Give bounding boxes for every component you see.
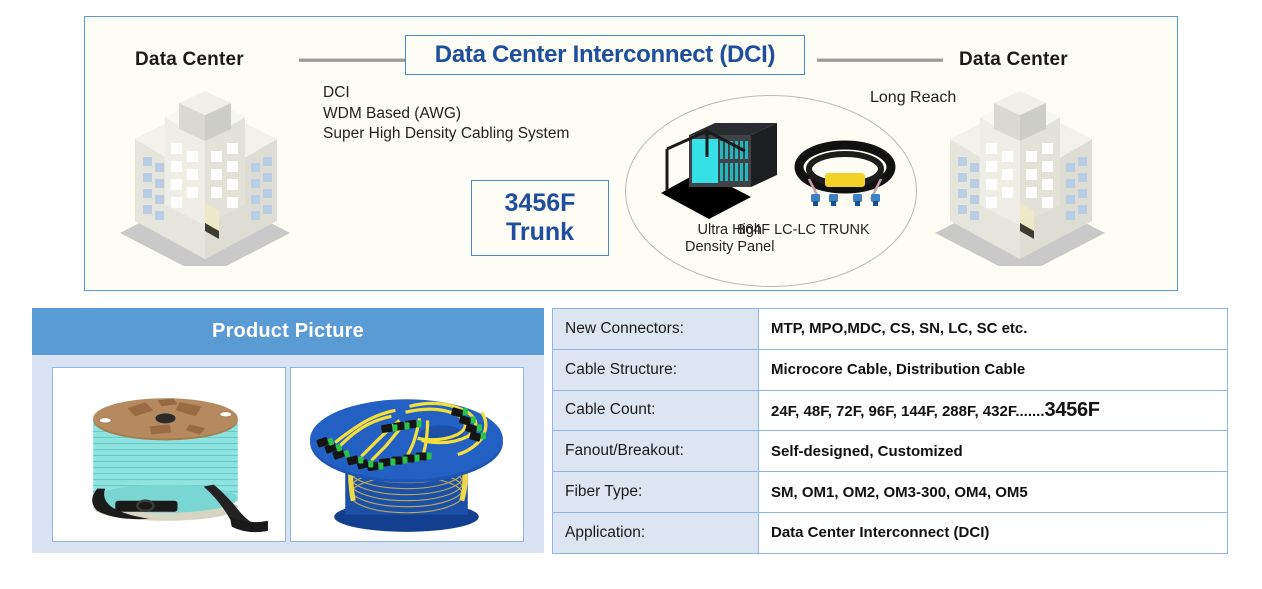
spec-value-fiber-type: SM, OM1, OM2, OM3-300, OM4, OM5 bbox=[759, 472, 1228, 513]
product-picture-header: Product Picture bbox=[32, 308, 544, 355]
spec-value-fanout-breakout: Self-designed, Customized bbox=[759, 431, 1228, 472]
panel-label-line-2: Density Panel bbox=[685, 239, 774, 256]
lc-lc-trunk-cable-icon bbox=[785, 139, 905, 217]
mpo-trunk-spool-photo[interactable] bbox=[290, 367, 524, 542]
spec-key-application: Application: bbox=[553, 512, 759, 553]
long-reach-label: Long Reach bbox=[870, 89, 956, 107]
spec-key-fiber-type: Fiber Type: bbox=[553, 472, 759, 513]
spec-value-cable-structure: Microcore Cable, Distribution Cable bbox=[759, 349, 1228, 390]
mpo-trunk-spool-image bbox=[291, 368, 523, 541]
table-row: New Connectors: MTP, MPO,MDC, CS, SN, LC… bbox=[553, 309, 1228, 350]
product-picture-header-label: Product Picture bbox=[212, 320, 364, 343]
spec-value-cable-count-max: 3456F bbox=[1045, 399, 1100, 421]
lc-lc-trunk-label: 864F LC-LC TRUNK bbox=[737, 222, 870, 239]
dci-title-badge: Data Center Interconnect (DCI) bbox=[405, 35, 805, 75]
specification-table: New Connectors: MTP, MPO,MDC, CS, SN, LC… bbox=[552, 308, 1228, 554]
dci-spec-line-3: Super High Density Cabling System bbox=[323, 124, 569, 145]
trunk-capacity-badge: 3456F Trunk bbox=[471, 180, 609, 256]
ultra-high-density-panel-icon bbox=[659, 121, 789, 221]
product-picture-panel: Product Picture bbox=[32, 308, 544, 553]
fiber-reel-aqua-image bbox=[53, 368, 285, 541]
table-row: Application: Data Center Interconnect (D… bbox=[553, 512, 1228, 553]
table-row: Fanout/Breakout: Self-designed, Customiz… bbox=[553, 431, 1228, 472]
spec-key-cable-count: Cable Count: bbox=[553, 390, 759, 431]
spec-key-fanout-breakout: Fanout/Breakout: bbox=[553, 431, 759, 472]
table-row: Cable Structure: Microcore Cable, Distri… bbox=[553, 349, 1228, 390]
spec-key-cable-structure: Cable Structure: bbox=[553, 349, 759, 390]
trunk-capacity-unit: Trunk bbox=[506, 218, 574, 247]
left-data-center-building-icon bbox=[105, 81, 305, 266]
dci-spec-lines: DCI WDM Based (AWG) Super High Density C… bbox=[323, 83, 569, 145]
spec-value-cable-count-list: 24F, 48F, 72F, 96F, 144F, 288F, 432F....… bbox=[771, 403, 1045, 420]
spec-key-new-connectors: New Connectors: bbox=[553, 309, 759, 350]
spec-value-new-connectors: MTP, MPO,MDC, CS, SN, LC, SC etc. bbox=[759, 309, 1228, 350]
trunk-capacity-value: 3456F bbox=[505, 189, 576, 218]
fiber-reel-aqua-photo[interactable] bbox=[52, 367, 286, 542]
right-connector-rail bbox=[817, 58, 943, 62]
table-row: Cable Count: 24F, 48F, 72F, 96F, 144F, 2… bbox=[553, 390, 1228, 431]
right-data-center-building-icon bbox=[920, 81, 1120, 266]
dci-diagram-panel: Data Center Data Center bbox=[84, 16, 1178, 291]
dci-title-text: Data Center Interconnect (DCI) bbox=[435, 41, 775, 69]
left-connector-rail bbox=[299, 58, 409, 62]
spec-value-cable-count: 24F, 48F, 72F, 96F, 144F, 288F, 432F....… bbox=[759, 390, 1228, 431]
table-row: Fiber Type: SM, OM1, OM2, OM3-300, OM4, … bbox=[553, 472, 1228, 513]
right-data-center-label: Data Center bbox=[959, 49, 1068, 71]
spec-value-application: Data Center Interconnect (DCI) bbox=[759, 512, 1228, 553]
dci-spec-line-2: WDM Based (AWG) bbox=[323, 104, 569, 125]
dci-spec-line-1: DCI bbox=[323, 83, 569, 104]
left-data-center-label: Data Center bbox=[135, 49, 244, 71]
